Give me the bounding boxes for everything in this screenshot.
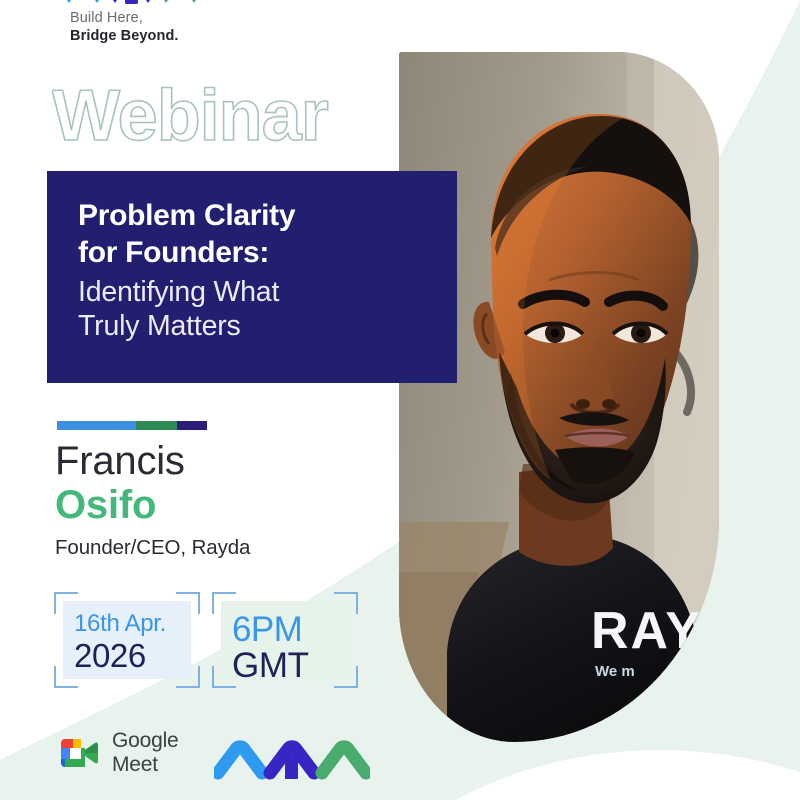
subhead-line-1: Identifying What — [78, 276, 279, 308]
tagline-line-1: Build Here, — [70, 10, 179, 28]
title-card: Problem Clarity for Founders: Identifyin… — [47, 171, 457, 383]
headline-line-2: for Founders: — [78, 236, 269, 269]
accent-segment-blue — [57, 421, 136, 430]
time-badge: 6PM GMT — [212, 592, 358, 688]
google-meet-label: Google Meet — [112, 729, 179, 776]
brand-tagline: Build Here, Bridge Beyond. — [70, 10, 179, 45]
date-badge: 16th Apr. 2026 — [54, 592, 200, 688]
speaker-block: Francis Osifo Founder/CEO, Rayda — [55, 440, 250, 560]
date-year: 2026 — [74, 639, 166, 672]
webinar-eyebrow: Webinar — [52, 76, 392, 158]
time-hour: 6PM — [232, 612, 309, 647]
speaker-photo: RAY We m — [399, 52, 719, 742]
webinar-outline-text: Webinar — [52, 76, 328, 156]
shirt-tagline-text: We m — [595, 663, 635, 680]
date-badge-text: 16th Apr. 2026 — [74, 612, 166, 672]
speaker-accent-bar — [57, 421, 207, 430]
platform-name-line-2: Meet — [112, 753, 179, 777]
chevron-navy-arrow-icon — [270, 747, 314, 779]
platform-name-line-1: Google — [112, 729, 179, 753]
google-meet-icon — [57, 735, 101, 771]
date-day-month: 16th Apr. — [74, 612, 166, 636]
subhead-line-2: Truly Matters — [78, 310, 241, 342]
accent-segment-navy — [177, 421, 207, 430]
time-timezone: GMT — [232, 648, 309, 683]
webinar-poster: RAY We m — [0, 0, 800, 800]
speaker-role: Founder/CEO, Rayda — [55, 536, 250, 561]
platform-google-meet: Google Meet — [57, 729, 179, 776]
webinar-headline: Problem Clarity for Founders: — [78, 198, 438, 272]
tagline-line-2: Bridge Beyond. — [70, 28, 179, 46]
webinar-subheadline: Identifying What Truly Matters — [78, 276, 448, 344]
chevron-blue-icon — [218, 747, 262, 773]
speaker-last-name: Osifo — [55, 484, 250, 527]
speaker-first-name: Francis — [55, 440, 250, 483]
decorative-chevrons — [214, 735, 370, 781]
headline-line-1: Problem Clarity — [78, 199, 295, 232]
time-badge-text: 6PM GMT — [232, 612, 309, 683]
accent-segment-green — [136, 421, 177, 430]
chevron-green-icon — [322, 747, 366, 773]
